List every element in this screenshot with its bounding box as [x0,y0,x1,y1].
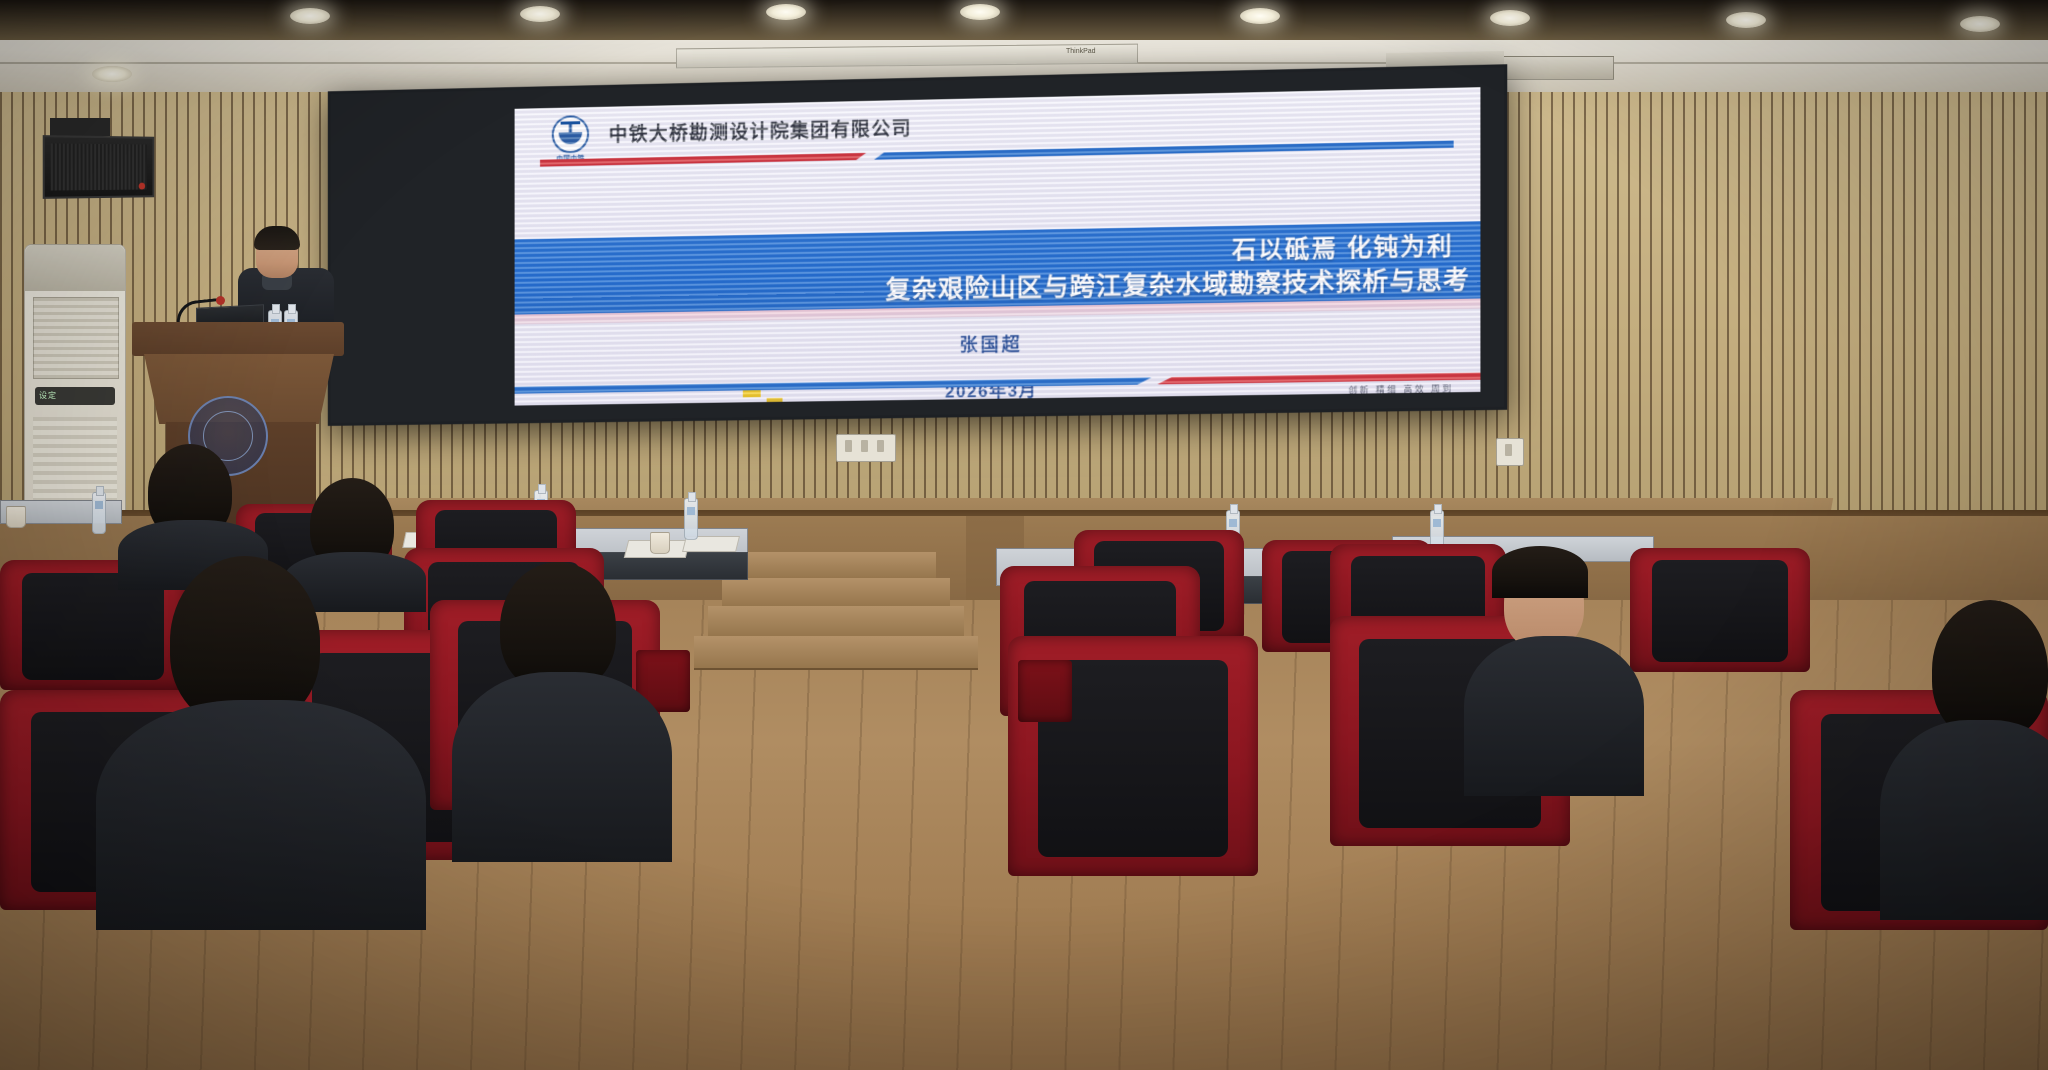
ceiling-downlight [1960,16,2000,32]
ceiling-downlight [766,4,806,20]
paper-cup [6,506,26,528]
ceiling-downlight [960,4,1000,20]
audience-head [1932,600,2048,740]
speaker-bracket [50,118,110,136]
ceiling-downlight [520,6,560,22]
audience-shoulders [1464,636,1644,796]
audience-shoulders [452,672,672,862]
ceiling-downlight [290,8,330,24]
crh-bridge-logo-icon: 中国中铁 [540,115,601,162]
water-bottle [92,492,106,534]
ceiling-downlight [1490,10,1530,26]
projector-label: ThinkPad [1066,48,1096,55]
wall-speaker-icon [43,135,155,199]
floor-air-conditioner: 设定 [24,244,126,516]
auditorium-chair[interactable] [1630,548,1810,672]
wall-outlet[interactable] [1496,438,1524,466]
company-name: 中铁大桥勘测设计院集团有限公司 [609,114,912,147]
conference-hall-photo: ThinkPad 中国中铁 中铁大桥勘测设计院集团有限公司 石以砥焉 化钝为利 … [0,0,2048,1070]
ceiling-downlight [92,66,132,82]
ceiling-downlight [1240,8,1280,24]
led-presentation-screen[interactable]: 中国中铁 中铁大桥勘测设计院集团有限公司 石以砥焉 化钝为利 复杂艰险山区与跨江… [328,64,1507,426]
ac-grille [33,297,119,379]
ceiling-downlight [1726,12,1766,28]
presenter-hair [254,226,300,250]
ceiling-vent [1492,56,1614,80]
slide-author: 张国超 [515,323,1481,364]
presentation-slide: 中国中铁 中铁大桥勘测设计院集团有限公司 石以砥焉 化钝为利 复杂艰险山区与跨江… [515,87,1481,405]
chair-tablet-arm[interactable] [1018,660,1072,722]
slide-title-line1: 石以砥焉 化钝为利 [1232,226,1454,265]
audience-shoulders [1880,720,2048,920]
wall-outlet[interactable] [836,434,896,462]
audience-shoulders [96,700,426,930]
paper-cup [650,532,670,554]
header-rule-blue [874,141,1454,160]
water-bottle [684,498,698,540]
audience-head [1492,546,1588,598]
microphone-head-icon [216,296,225,305]
ac-display-label: 设定 [39,390,57,401]
